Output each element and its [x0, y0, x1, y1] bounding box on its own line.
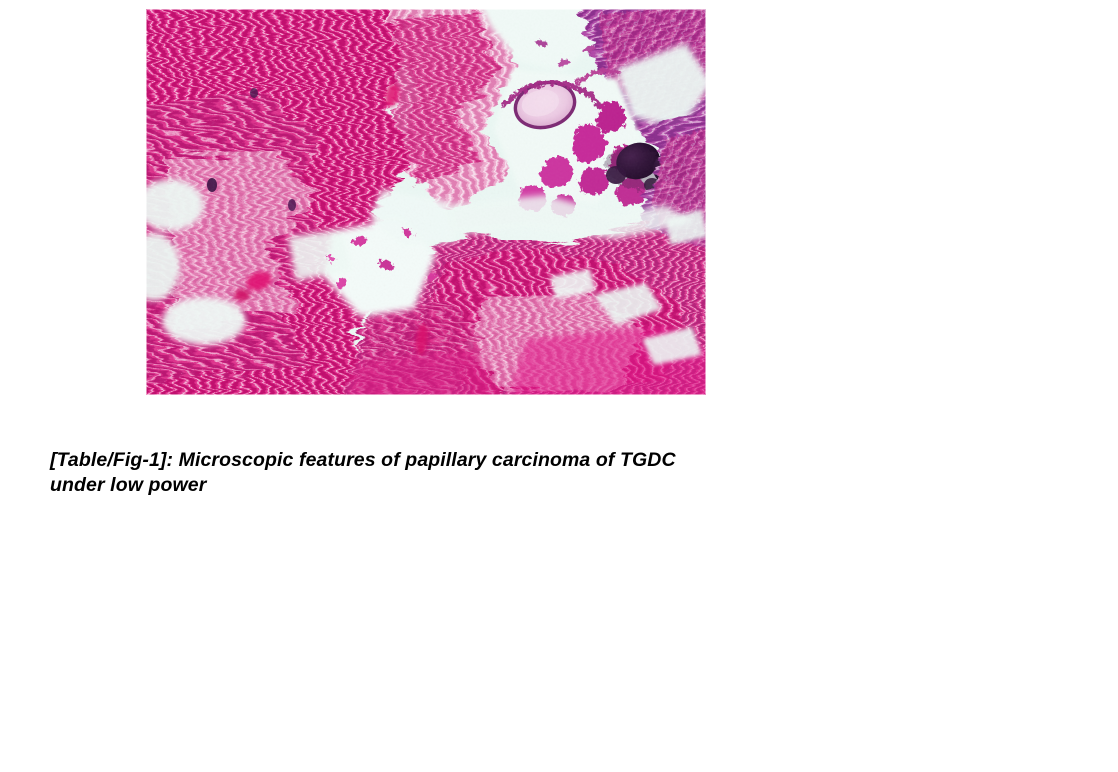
figure-block: [Table/Fig-1]: Microscopic features of p…: [0, 0, 1118, 772]
micrograph-canvas: [146, 9, 706, 395]
figure-caption: [Table/Fig-1]: Microscopic features of p…: [50, 448, 750, 497]
micrograph-image: [146, 9, 706, 395]
